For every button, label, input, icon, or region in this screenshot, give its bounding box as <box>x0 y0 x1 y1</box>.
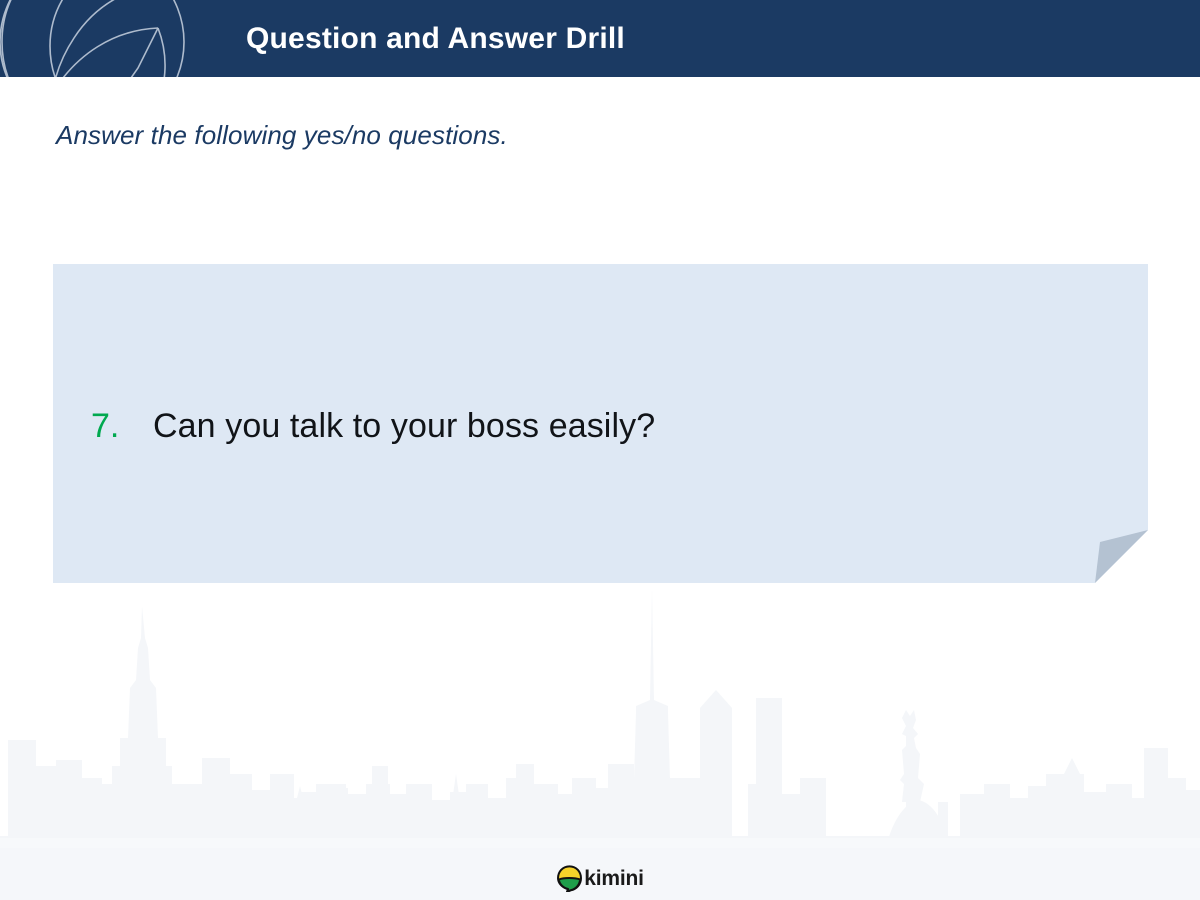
brand-lockup: kimini <box>0 865 1200 892</box>
question-row: 7. Can you talk to your boss easily? <box>53 407 655 446</box>
kimini-speech-bubble-icon <box>556 865 583 892</box>
slide-header: Question and Answer Drill <box>0 0 1200 77</box>
slide-footer: kimini <box>0 848 1200 900</box>
question-number: 7. <box>91 407 153 446</box>
page-title: Question and Answer Drill <box>246 0 625 77</box>
instruction-text: Answer the following yes/no questions. <box>56 120 508 151</box>
card-content: 7. Can you talk to your boss easily? <box>53 264 1148 583</box>
question-text: Can you talk to your boss easily? <box>153 407 655 446</box>
brand-name: kimini <box>584 865 643 892</box>
gaba-g-watermark-icon <box>0 0 202 77</box>
question-card: 7. Can you talk to your boss easily? <box>53 264 1148 583</box>
slide-root: Question and Answer Drill Answer the fol… <box>0 0 1200 900</box>
ground-band <box>0 838 1200 848</box>
new-york-skyline-silhouette-icon <box>0 588 1200 848</box>
